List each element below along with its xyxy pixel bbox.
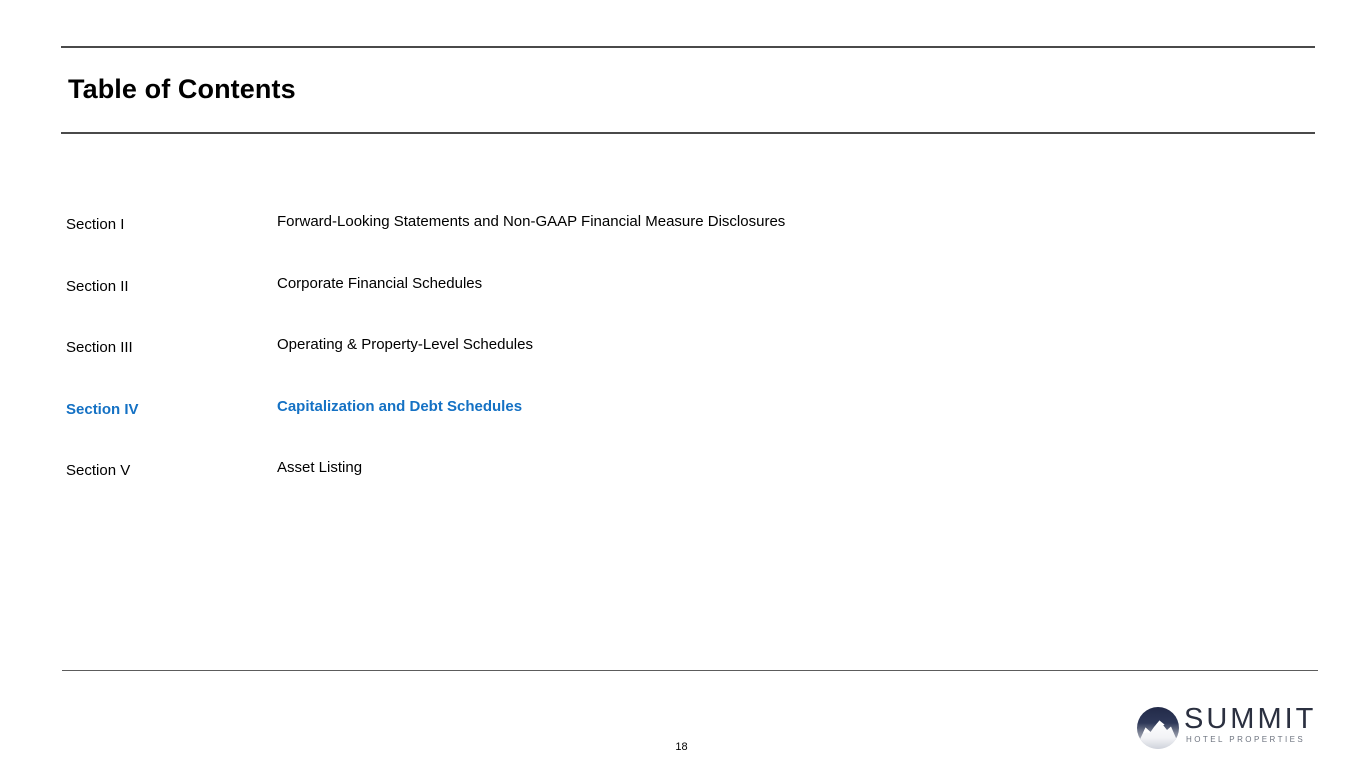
toc-section-description: Operating & Property-Level Schedules	[277, 335, 533, 355]
toc-section-description: Forward-Looking Statements and Non-GAAP …	[277, 212, 785, 232]
table-of-contents-list: Section I Forward-Looking Statements and…	[0, 212, 1365, 520]
logo-tagline: HOTEL PROPERTIES	[1186, 735, 1305, 745]
toc-row[interactable]: Section III Operating & Property-Level S…	[0, 335, 1365, 397]
toc-section-description: Corporate Financial Schedules	[277, 274, 482, 294]
toc-row-current[interactable]: Section IV Capitalization and Debt Sched…	[0, 397, 1365, 459]
toc-row[interactable]: Section II Corporate Financial Schedules	[0, 274, 1365, 336]
toc-section-description: Capitalization and Debt Schedules	[277, 397, 522, 417]
footer-rule	[62, 670, 1318, 671]
mountain-circle-icon	[1136, 706, 1180, 750]
page-title: Table of Contents	[68, 72, 296, 106]
header-bottom-rule	[61, 132, 1315, 134]
toc-row[interactable]: Section V Asset Listing	[0, 458, 1365, 520]
logo-wordmark: SUMMIT	[1184, 704, 1316, 734]
toc-section-description: Asset Listing	[277, 458, 362, 478]
page-number-value: 18	[675, 741, 687, 753]
header-top-rule	[61, 46, 1315, 48]
toc-section-label: Section V	[66, 461, 130, 481]
slide-canvas: Table of Contents Section I Forward-Look…	[0, 0, 1365, 768]
toc-section-label: Section I	[66, 215, 124, 235]
toc-section-label: Section III	[66, 338, 133, 358]
toc-row[interactable]: Section I Forward-Looking Statements and…	[0, 212, 1365, 274]
summit-hotel-properties-logo: SUMMIT HOTEL PROPERTIES	[1136, 704, 1326, 752]
toc-section-label: Section II	[66, 277, 129, 297]
toc-section-label: Section IV	[66, 400, 139, 420]
